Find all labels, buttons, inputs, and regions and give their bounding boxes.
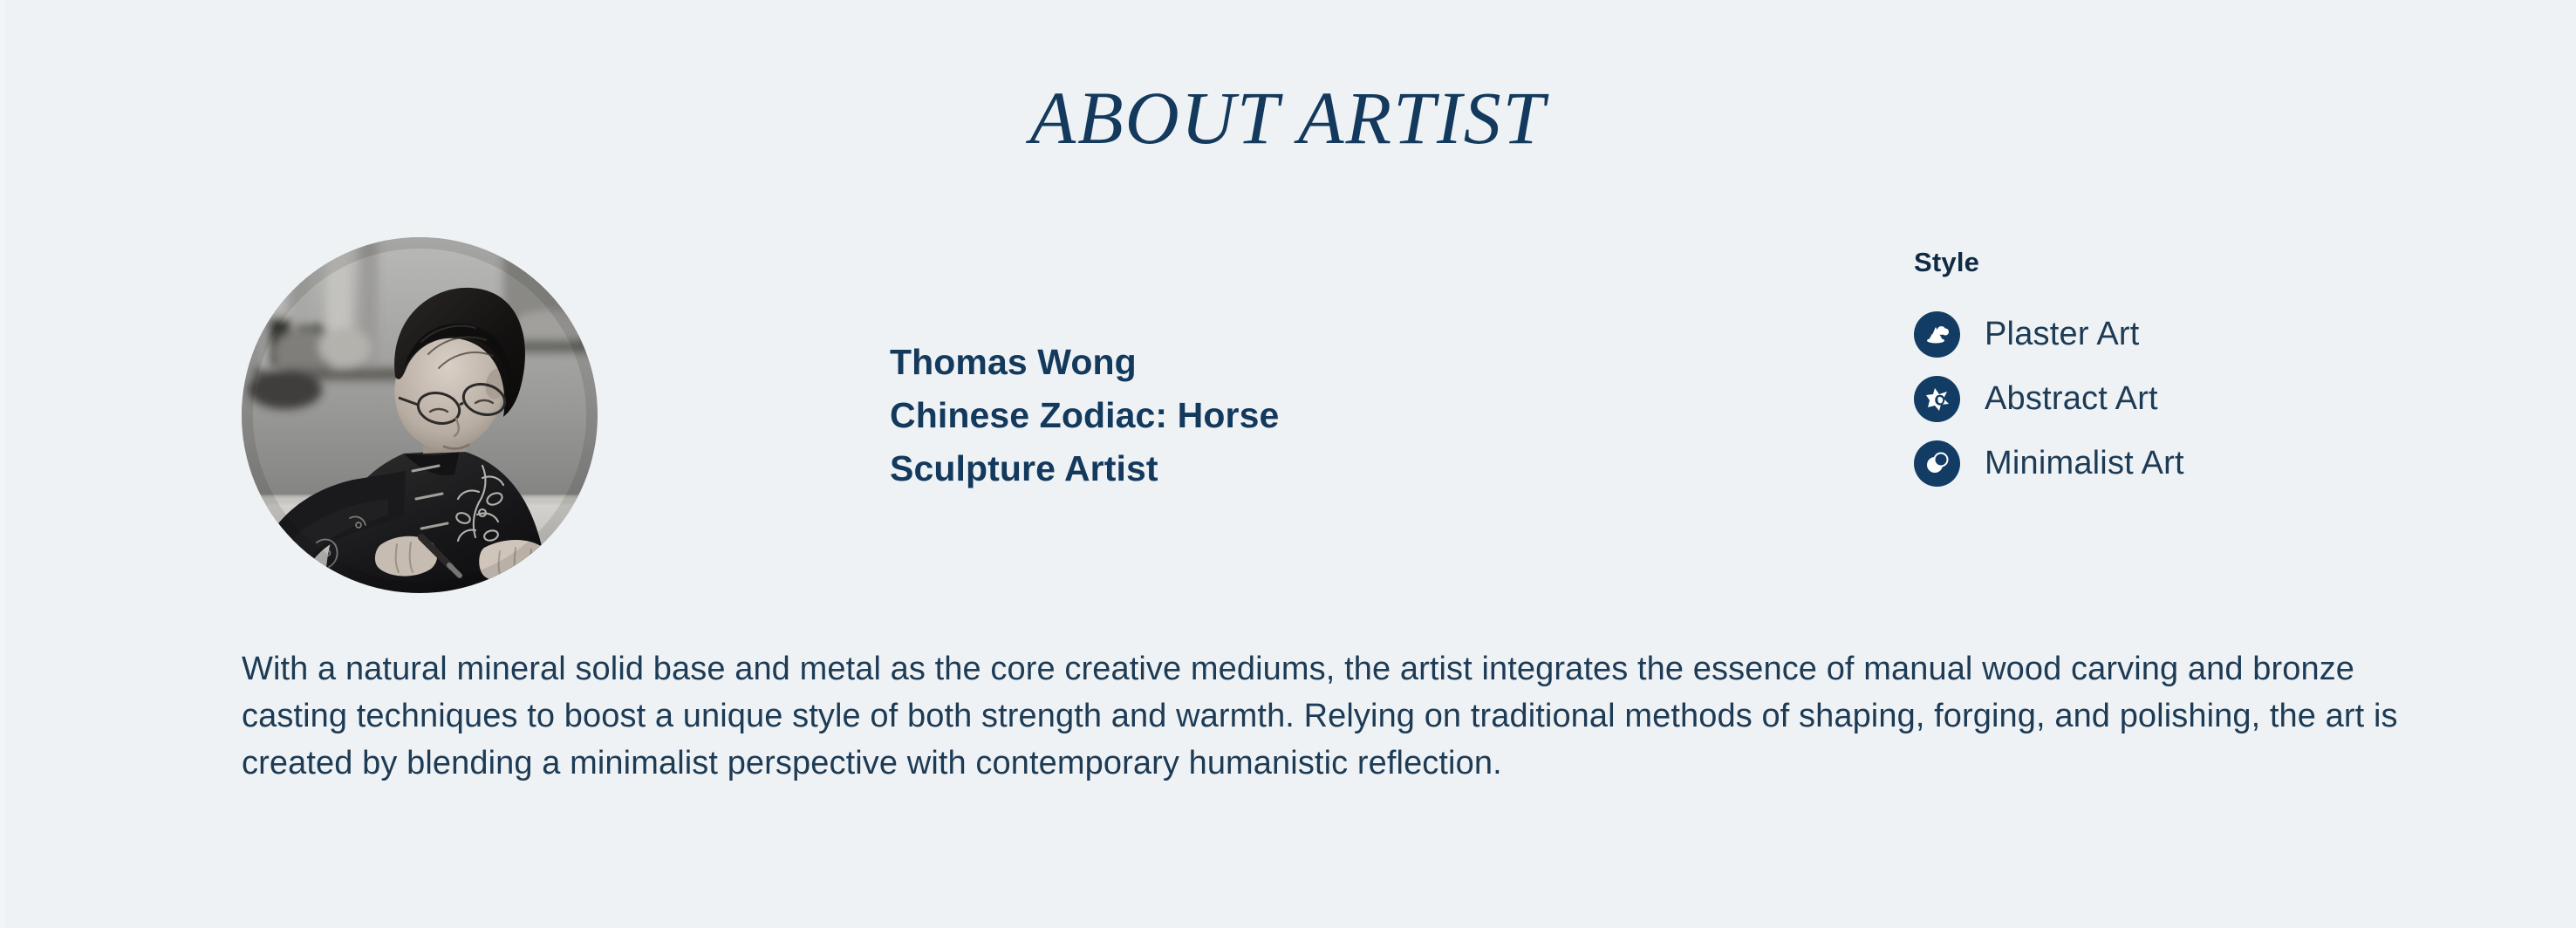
about-artist-section: ABOUT ARTIST xyxy=(0,0,2576,928)
artist-details: Thomas Wong Chinese Zodiac: Horse Sculpt… xyxy=(890,336,1279,495)
artist-role: Sculpture Artist xyxy=(890,442,1279,495)
style-heading: Style xyxy=(1914,247,2184,278)
artist-name: Thomas Wong xyxy=(890,336,1279,389)
style-panel: Style Plaster Art xyxy=(1914,247,2184,495)
page-title: ABOUT ARTIST xyxy=(0,77,2576,160)
plaster-cone-icon xyxy=(1914,311,1960,358)
style-item-label: Abstract Art xyxy=(1985,380,2158,418)
style-list: Plaster Art Abstract Art xyxy=(1914,302,2184,495)
style-item-abstract-art[interactable]: Abstract Art xyxy=(1914,366,2184,431)
artist-portrait-image xyxy=(242,237,598,593)
style-item-label: Plaster Art xyxy=(1985,316,2140,353)
artist-portrait-avatar xyxy=(242,237,598,593)
abstract-star-icon xyxy=(1914,376,1960,422)
artist-zodiac: Chinese Zodiac: Horse xyxy=(890,389,1279,442)
style-item-label: Minimalist Art xyxy=(1985,445,2184,482)
artist-bio-paragraph: With a natural mineral solid base and me… xyxy=(242,645,2440,787)
style-item-minimalist-art[interactable]: Minimalist Art xyxy=(1914,431,2184,495)
artist-profile-row: Thomas Wong Chinese Zodiac: Horse Sculpt… xyxy=(242,237,1279,593)
overlapping-circles-icon xyxy=(1914,440,1960,487)
style-item-plaster-art[interactable]: Plaster Art xyxy=(1914,302,2184,366)
